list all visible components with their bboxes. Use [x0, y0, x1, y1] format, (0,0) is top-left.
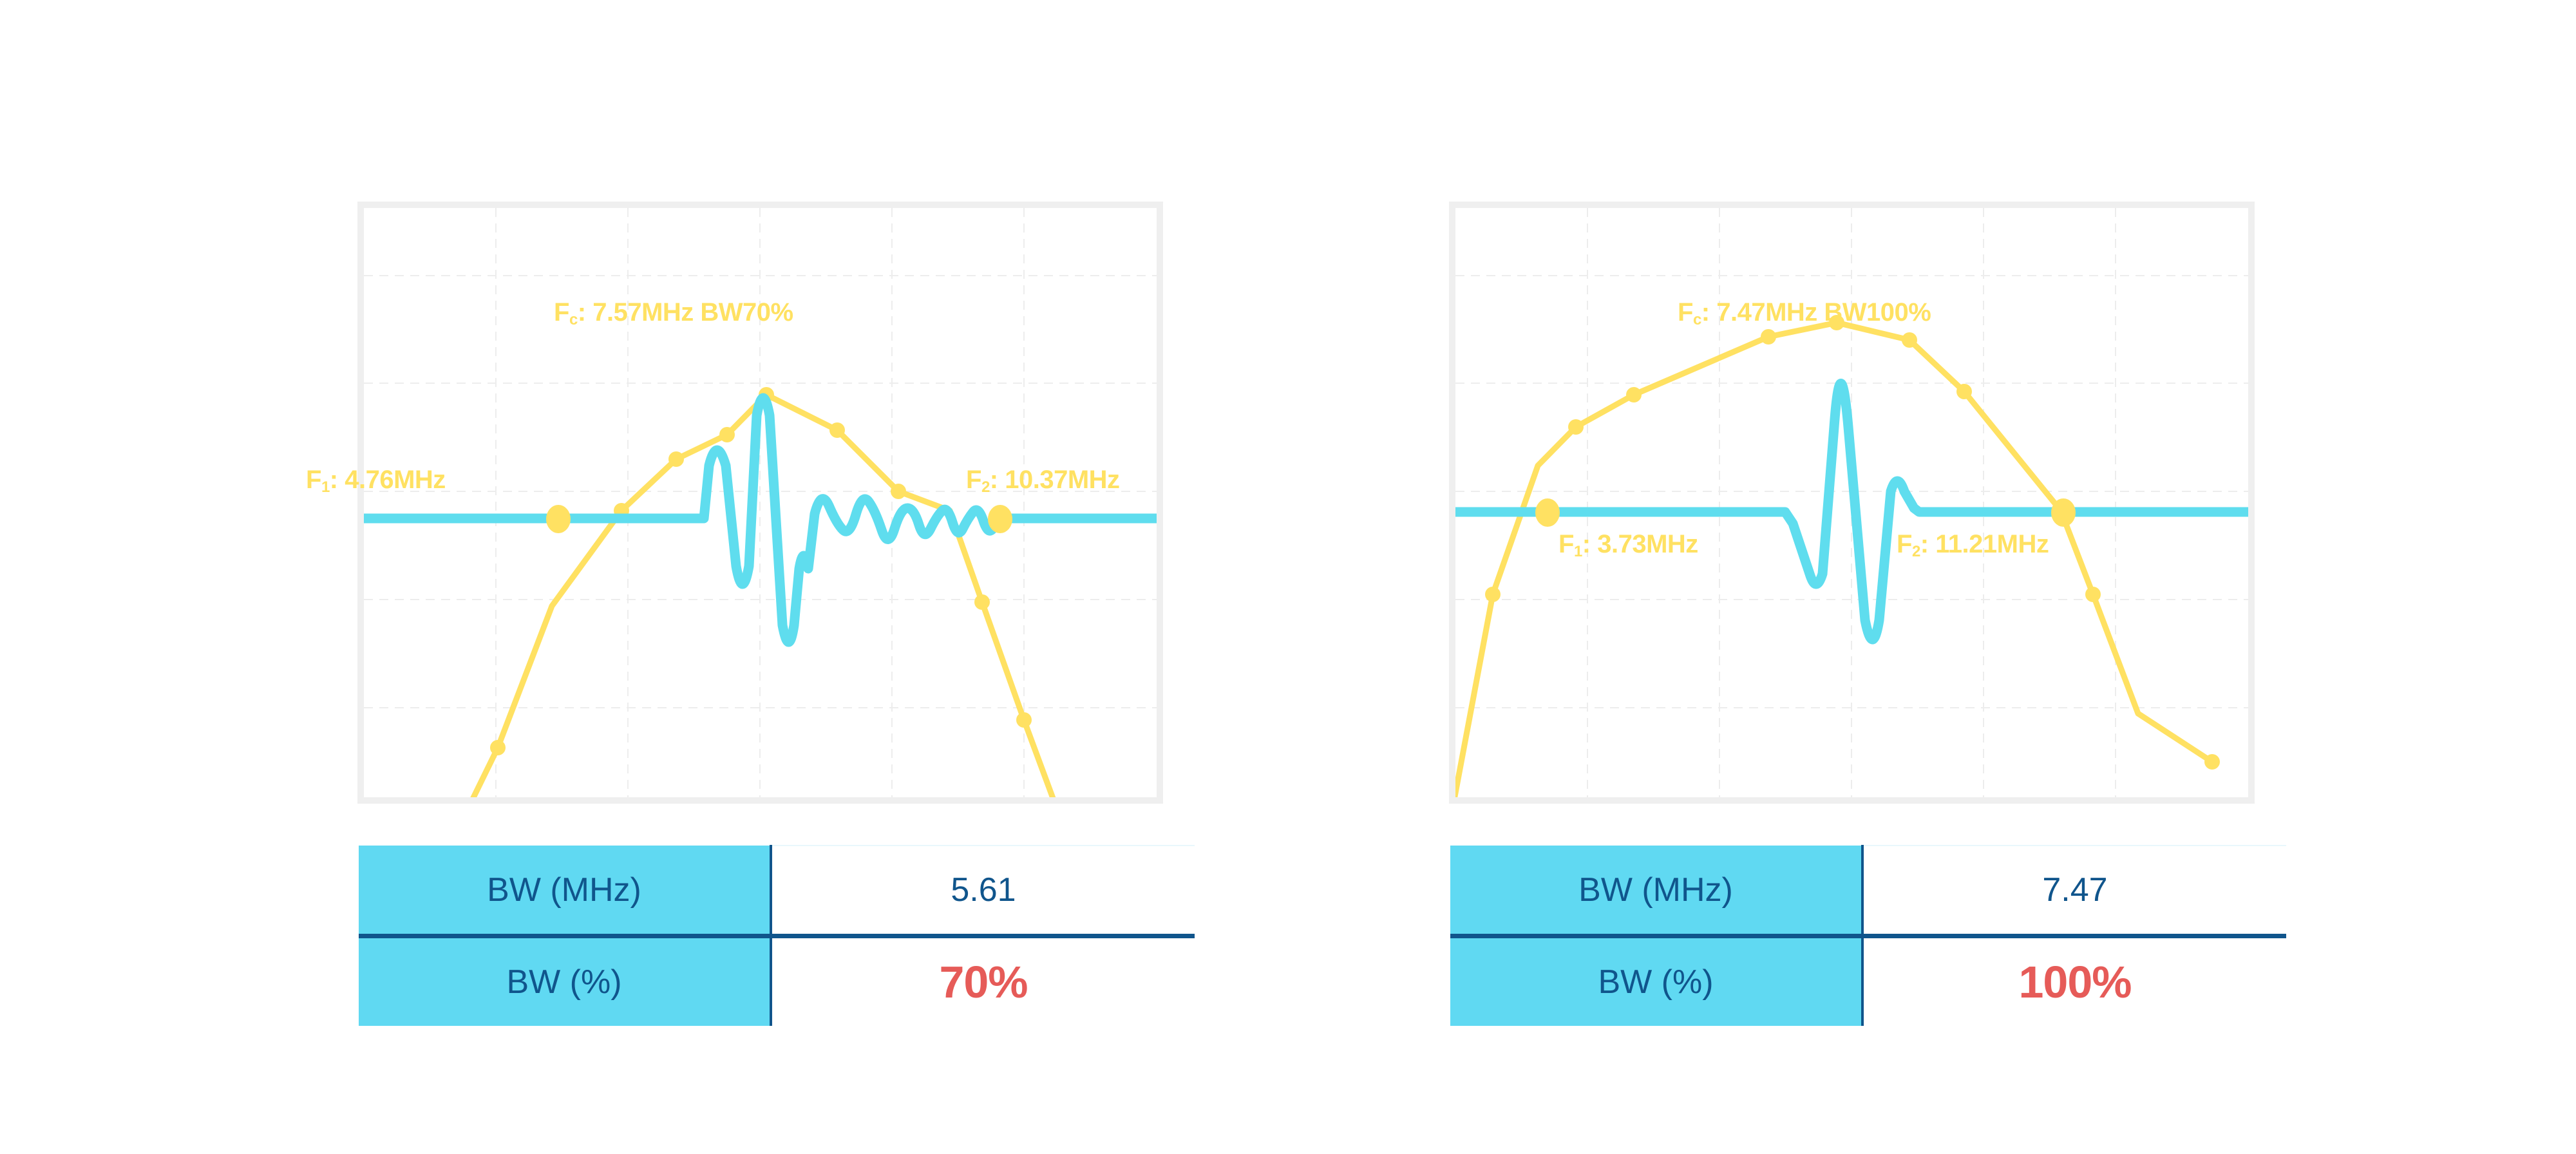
- table-header-bw-pct: BW (%): [359, 936, 771, 1026]
- chart-left: [364, 208, 1157, 797]
- table-header-bw-mhz: BW (MHz): [359, 846, 771, 936]
- table-value-bw-pct: 100%: [1862, 936, 2286, 1026]
- panel-right: Fc: 7.47MHz BW100% F1: 3.73MHz F2: 11.21…: [1288, 0, 2576, 1154]
- chart-frame-left: Fc: 7.57MHz BW70% F1: 4.76MHz F2: 10.37M…: [357, 202, 1163, 804]
- table-value-bw-pct: 70%: [771, 936, 1195, 1026]
- spectrum-markers-left: [490, 387, 1032, 755]
- label-center-frequency-right: Fc: 7.47MHz BW100%: [1678, 298, 1931, 329]
- table-header-bw-pct: BW (%): [1450, 936, 1862, 1026]
- label-f2-left: F2: 10.37MHz: [966, 466, 1120, 497]
- label-f1-left: F1: 4.76MHz: [306, 466, 446, 497]
- table-row: BW (MHz) 5.61: [359, 846, 1195, 936]
- label-f2-right: F2: 11.21MHz: [1897, 530, 2049, 561]
- table-row: BW (MHz) 7.47: [1450, 846, 2286, 936]
- table-value-bw-mhz: 7.47: [1862, 846, 2286, 936]
- bandwidth-table-left: BW (MHz) 5.61 BW (%) 70%: [359, 845, 1195, 1026]
- label-f1-right: F1: 3.73MHz: [1558, 530, 1698, 561]
- table-row: BW (%) 70%: [359, 936, 1195, 1026]
- gridlines-left: [364, 208, 1157, 797]
- chart-frame-right: Fc: 7.47MHz BW100% F1: 3.73MHz F2: 11.21…: [1449, 202, 2255, 804]
- table-value-bw-mhz: 5.61: [771, 846, 1195, 936]
- label-center-frequency-left: Fc: 7.57MHz BW70%: [554, 298, 793, 329]
- spectrum-curve-left: [469, 395, 1056, 797]
- table-row: BW (%) 100%: [1450, 936, 2286, 1026]
- panel-left: Fc: 7.57MHz BW70% F1: 4.76MHz F2: 10.37M…: [0, 0, 1288, 1154]
- chart-right: [1455, 208, 2248, 797]
- table-header-bw-mhz: BW (MHz): [1450, 846, 1862, 936]
- figure-root: Fc: 7.57MHz BW70% F1: 4.76MHz F2: 10.37M…: [0, 0, 2576, 1154]
- bandwidth-table-right: BW (MHz) 7.47 BW (%) 100%: [1450, 845, 2286, 1026]
